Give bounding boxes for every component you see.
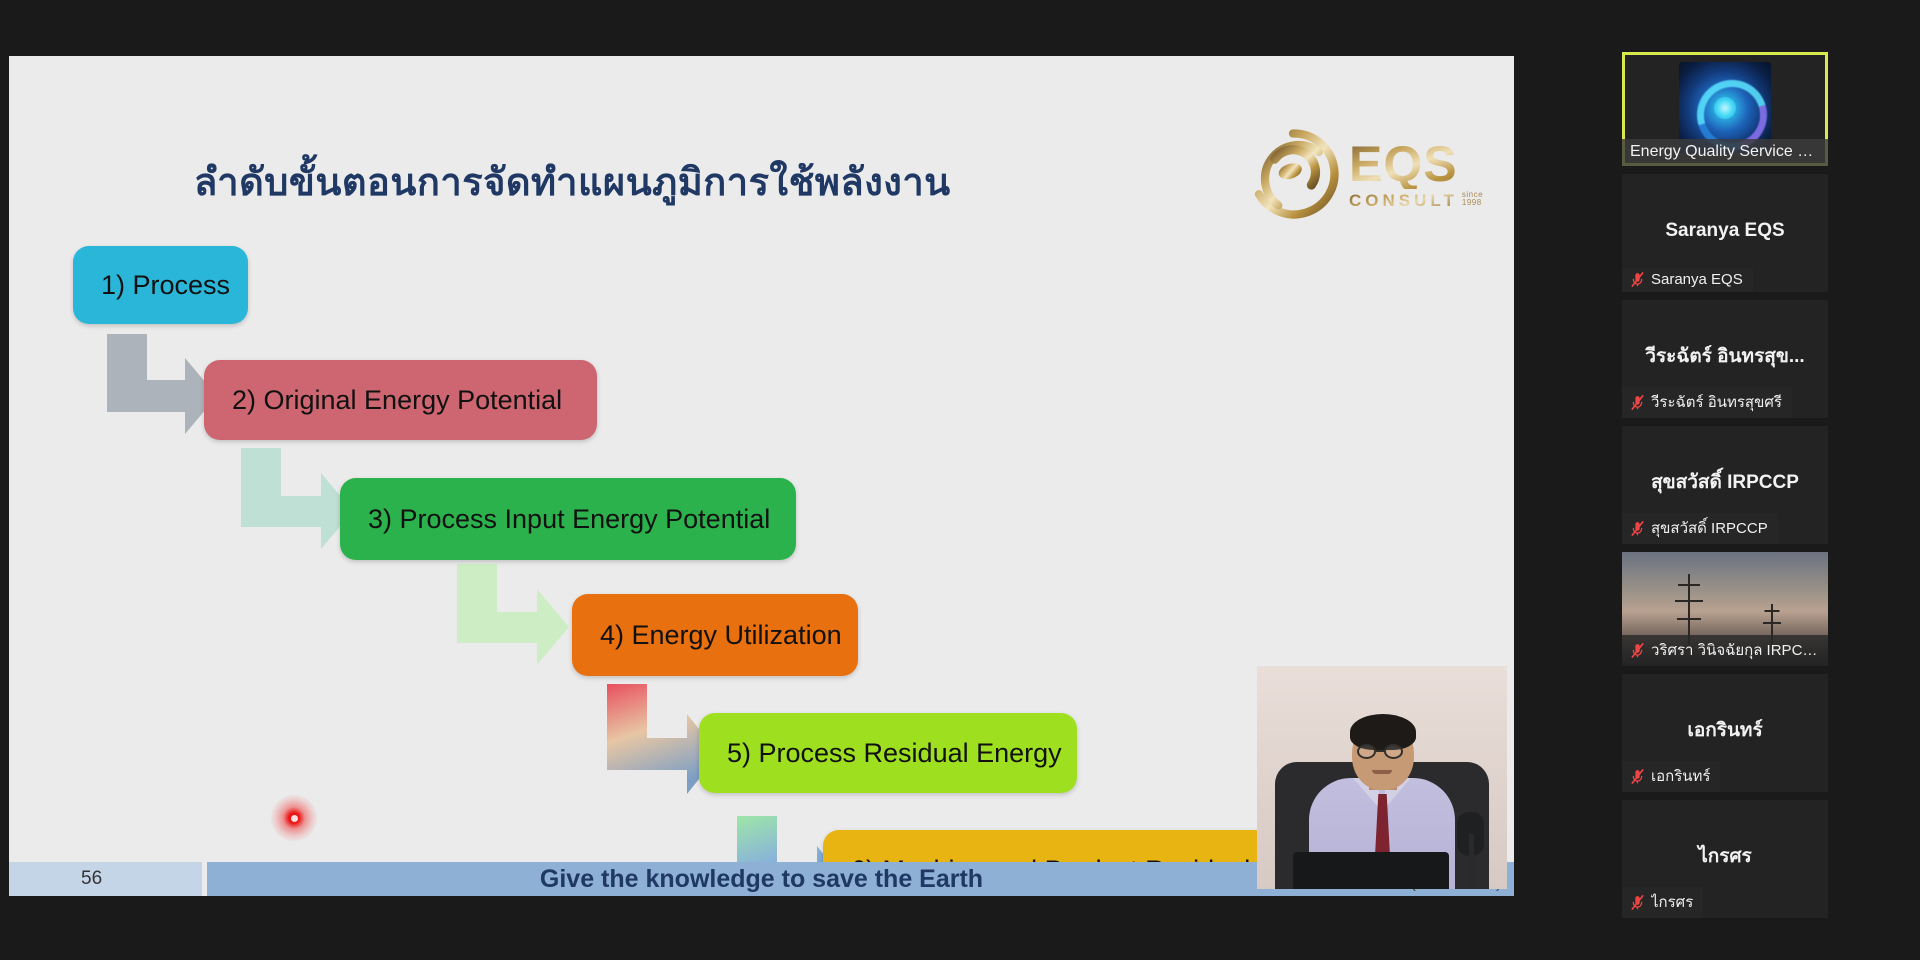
participant-tile-weerachat[interactable]: วีระฉัตร์ อินทรสุข... วีระฉัตร์ อินทรสุข… (1622, 300, 1828, 418)
participant-display-name: เอกรินทร์ (1622, 715, 1828, 745)
arrow-1-to-2 (107, 334, 217, 434)
eyeglass-right (1384, 744, 1403, 759)
participant-namebar: เอกรินทร์ (1622, 761, 1720, 792)
eqs-spiral-icon (1247, 128, 1339, 220)
participant-display-name: สุขสวัสดิ์ IRPCCP (1622, 467, 1828, 497)
logo-tagline: since 1998 (1462, 191, 1495, 209)
arrow-3-to-4 (457, 564, 569, 666)
flow-step-5-label: 5) Process Residual Energy (727, 738, 1062, 769)
participant-namebar: Saranya EQS (1622, 268, 1753, 292)
participant-filmstrip[interactable]: Energy Quality Service Co.... Saranya EQ… (1622, 52, 1828, 960)
microphone-stand (1469, 834, 1474, 889)
participant-namebar: สุขสวัสดิ์ IRPCCP (1622, 513, 1778, 544)
flow-step-4-label: 4) Energy Utilization (600, 620, 842, 651)
mic-muted-icon (1630, 768, 1645, 785)
mic-muted-icon (1630, 642, 1645, 659)
participant-name-label: วีระฉัตร์ อินทรสุขศรี (1651, 390, 1782, 414)
participant-name: Energy Quality Service Co.... (1622, 139, 1828, 166)
participant-namebar: วีระฉัตร์ อินทรสุขศรี (1622, 387, 1792, 418)
participant-namebar: วริศรา วินิจฉัยกุล IRPCCP (1622, 635, 1828, 666)
participant-name-label: สุขสวัสดิ์ IRPCCP (1651, 516, 1768, 540)
flow-step-3[interactable]: 3) Process Input Energy Potential (340, 478, 796, 560)
flow-step-2-label: 2) Original Energy Potential (232, 385, 562, 416)
participant-display-name: Saranya EQS (1622, 220, 1828, 242)
participant-display-name: ไกรศร (1622, 841, 1828, 871)
presenter-mouth (1372, 770, 1392, 774)
laser-pointer-dot (271, 795, 317, 841)
mic-muted-icon (1630, 894, 1645, 911)
flow-step-3-label: 3) Process Input Energy Potential (368, 504, 770, 535)
slide-title: ลำดับขั้นตอนการจัดทำแผนภูมิการใช้พลังงาน (194, 151, 951, 212)
eyeglass-left (1357, 744, 1376, 759)
flow-step-4[interactable]: 4) Energy Utilization (572, 594, 858, 676)
logo-secondary-text: CONSULT (1349, 192, 1458, 209)
participant-tile-energy-quality-service[interactable]: Energy Quality Service Co.... (1622, 52, 1828, 166)
participant-tile-aekarin[interactable]: เอกรินทร์ เอกรินทร์ (1622, 674, 1828, 792)
mic-muted-icon (1630, 271, 1645, 288)
participant-name-label: เอกรินทร์ (1651, 764, 1710, 788)
logo-primary-text: EQS (1349, 139, 1495, 189)
flow-step-2[interactable]: 2) Original Energy Potential (204, 360, 597, 440)
participant-name-label: ไกรศร (1651, 890, 1693, 914)
eqs-consult-logo: EQS CONSULT since 1998 (1247, 124, 1495, 224)
participant-tile-warissara-irpccp[interactable]: วริศรา วินิจฉัยกุล IRPCCP (1622, 552, 1828, 666)
eyeglass-bridge (1376, 750, 1384, 752)
mic-muted-icon (1630, 520, 1645, 537)
flow-step-1-label: 1) Process (101, 270, 230, 301)
participant-display-name: วีระฉัตร์ อินทรสุข... (1622, 341, 1828, 371)
laptop (1293, 852, 1449, 889)
participant-namebar: ไกรศร (1622, 887, 1703, 918)
participant-tile-saranya-eqs[interactable]: Saranya EQS Saranya EQS (1622, 174, 1828, 292)
participant-tile-kraison[interactable]: ไกรศร ไกรศร (1622, 800, 1828, 918)
meeting-screen: ลำดับขั้นตอนการจัดทำแผนภูมิการใช้พลังงาน (0, 0, 1920, 960)
flow-step-5[interactable]: 5) Process Residual Energy (699, 713, 1077, 793)
participant-name-label: Saranya EQS (1651, 271, 1743, 288)
mic-muted-icon (1630, 394, 1645, 411)
flow-step-1[interactable]: 1) Process (73, 246, 248, 324)
arrow-2-to-3 (241, 448, 353, 550)
participant-tile-suksawat-irpccp[interactable]: สุขสวัสดิ์ IRPCCP สุขสวัสดิ์ IRPCCP (1622, 426, 1828, 544)
presenter-self-view[interactable] (1257, 666, 1507, 889)
participant-name-label: วริศรา วินิจฉัยกุล IRPCCP (1651, 638, 1818, 662)
